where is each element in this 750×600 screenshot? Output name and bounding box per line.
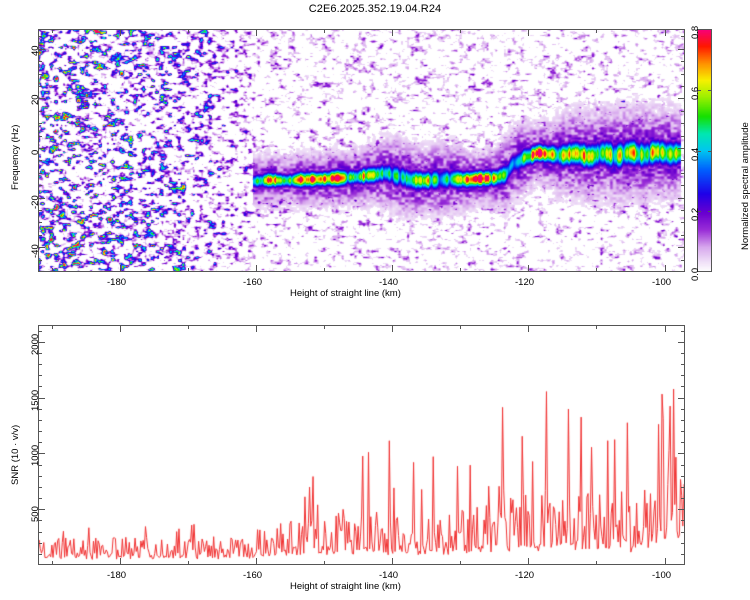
snr-x-minor-tick: [596, 561, 597, 565]
snr-line-plot: [38, 325, 685, 565]
spectrogram-y-ticklabel: 0: [30, 150, 41, 155]
spectrogram-y-minor-tick-right: [681, 210, 685, 211]
spectrogram-y-minor-tick-right: [681, 173, 685, 174]
spectrogram-yaxis-label: Frequency (Hz): [10, 125, 21, 190]
snr-x-major-tick-top: [256, 325, 257, 332]
snr-x-ticklabel: -120: [515, 570, 534, 581]
snr-x-major-tick: [392, 558, 393, 565]
spectrogram-x-major-tick: [120, 265, 121, 272]
spectrogram-y-minor-tick-right: [681, 235, 685, 236]
snr-y-minor-tick-right: [681, 442, 685, 443]
spectrogram-x-minor-tick: [52, 268, 53, 272]
colorbar-tick-right: [708, 29, 712, 30]
spectrogram-y-minor-tick: [38, 173, 42, 174]
spectrogram-x-ticklabel: -180: [107, 277, 126, 288]
spectrogram-x-major-tick-top: [528, 29, 529, 36]
snr-x-minor-tick-top: [460, 325, 461, 329]
spectrogram-y-minor-tick-right: [681, 86, 685, 87]
colorbar-tick-right: [708, 151, 712, 152]
snr-x-major-tick: [120, 558, 121, 565]
snr-x-minor-tick: [188, 561, 189, 565]
spectrogram-x-ticklabel: -160: [243, 277, 262, 288]
snr-x-ticklabel: -100: [652, 570, 671, 581]
spectrogram-y-minor-tick: [38, 222, 42, 223]
spectrogram-y-minor-tick: [38, 185, 42, 186]
snr-y-minor-tick: [38, 532, 42, 533]
colorbar-ticklabel: 0.6: [690, 87, 701, 100]
spectrogram-x-minor-tick: [188, 268, 189, 272]
snr-y-minor-tick: [38, 431, 42, 432]
spectrogram-y-major-tick-right: [678, 247, 685, 248]
snr-x-major-tick-top: [528, 325, 529, 332]
snr-x-minor-tick-top: [324, 325, 325, 329]
spectrogram-y-minor-tick-right: [681, 160, 685, 161]
colorbar-ticklabel: 0.0: [690, 268, 701, 281]
snr-x-major-tick: [665, 558, 666, 565]
spectrogram-x-major-tick: [528, 265, 529, 272]
snr-y-minor-tick: [38, 386, 42, 387]
spectrogram-y-minor-tick: [38, 123, 42, 124]
snr-y-minor-tick-right: [681, 520, 685, 521]
spectrogram-y-ticklabel: -20: [30, 195, 41, 209]
snr-y-minor-tick-right: [681, 420, 685, 421]
spectrogram-y-minor-tick: [38, 136, 42, 137]
spectrogram-x-major-tick-top: [120, 29, 121, 36]
spectrogram-x-minor-tick-top: [324, 29, 325, 33]
spectrogram-y-minor-tick-right: [681, 185, 685, 186]
spectrogram-x-minor-tick: [460, 268, 461, 272]
snr-x-ticklabel: -180: [107, 570, 126, 581]
spectrogram-y-major-tick-right: [678, 198, 685, 199]
snr-y-minor-tick-right: [681, 487, 685, 488]
colorbar-tick-right: [708, 211, 712, 212]
snr-y-minor-tick: [38, 420, 42, 421]
snr-x-major-tick-top: [120, 325, 121, 332]
spectrogram-y-minor-tick: [38, 74, 42, 75]
snr-y-minor-tick: [38, 487, 42, 488]
colorbar-tick-right: [708, 271, 712, 272]
figure-canvas-root: C2E6.2025.352.19.04.R24 -180-160-140-120…: [0, 0, 750, 600]
spectrogram-x-minor-tick-top: [188, 29, 189, 33]
spectrogram-y-minor-tick-right: [681, 260, 685, 261]
spectrogram-y-minor-tick-right: [681, 123, 685, 124]
spectrogram-y-minor-tick: [38, 111, 42, 112]
snr-y-minor-tick-right: [681, 532, 685, 533]
spectrogram-y-minor-tick-right: [681, 136, 685, 137]
snr-y-minor-tick-right: [681, 353, 685, 354]
snr-yaxis-label: SNR (10 · v/v): [10, 425, 21, 485]
spectrogram-x-minor-tick: [324, 268, 325, 272]
spectrogram-y-minor-tick: [38, 260, 42, 261]
spectrogram-y-minor-tick: [38, 61, 42, 62]
snr-x-minor-tick: [52, 561, 53, 565]
snr-y-minor-tick: [38, 331, 42, 332]
snr-y-minor-tick: [38, 543, 42, 544]
spectrogram-y-ticklabel: 20: [30, 94, 41, 105]
spectrogram-x-minor-tick-top: [596, 29, 597, 33]
colorbar-ticklabel: 0.4: [690, 148, 701, 161]
spectrogram-x-ticklabel: -140: [379, 277, 398, 288]
snr-y-ticklabel: 1000: [30, 445, 41, 466]
snr-x-minor-tick: [324, 561, 325, 565]
spectrogram-y-minor-tick-right: [681, 222, 685, 223]
spectrogram-y-ticklabel: 40: [30, 45, 41, 56]
spectrogram-y-minor-tick: [38, 160, 42, 161]
spectrogram-y-minor-tick: [38, 210, 42, 211]
spectrogram-x-major-tick: [256, 265, 257, 272]
snr-x-minor-tick-top: [52, 325, 53, 329]
snr-x-major-tick: [256, 558, 257, 565]
snr-y-minor-tick: [38, 364, 42, 365]
snr-y-minor-tick-right: [681, 431, 685, 432]
spectrogram-x-major-tick: [665, 265, 666, 272]
snr-x-minor-tick: [460, 561, 461, 565]
snr-y-minor-tick-right: [681, 386, 685, 387]
snr-x-major-tick: [528, 558, 529, 565]
spectrogram-x-minor-tick-top: [52, 29, 53, 33]
snr-x-major-tick-top: [665, 325, 666, 332]
snr-y-minor-tick-right: [681, 476, 685, 477]
snr-y-ticklabel: 500: [30, 506, 41, 522]
snr-y-major-tick-right: [678, 453, 685, 454]
snr-x-ticklabel: -140: [379, 570, 398, 581]
snr-y-minor-tick-right: [681, 331, 685, 332]
snr-y-minor-tick-right: [681, 465, 685, 466]
snr-y-minor-tick-right: [681, 554, 685, 555]
snr-y-minor-tick-right: [681, 409, 685, 410]
snr-y-major-tick-right: [678, 509, 685, 510]
spectrogram-x-ticklabel: -100: [652, 277, 671, 288]
spectrogram-y-ticklabel: -40: [30, 244, 41, 258]
spectrogram-x-major-tick-top: [392, 29, 393, 36]
snr-x-minor-tick-top: [188, 325, 189, 329]
spectrogram-y-minor-tick-right: [681, 111, 685, 112]
snr-y-minor-tick-right: [681, 498, 685, 499]
spectrogram-y-major-tick-right: [678, 98, 685, 99]
snr-y-minor-tick-right: [681, 375, 685, 376]
snr-y-minor-tick: [38, 554, 42, 555]
colorbar-label: Normalized spectral amplitude: [740, 122, 750, 250]
spectrogram-x-major-tick-top: [665, 29, 666, 36]
spectrogram-x-minor-tick: [596, 268, 597, 272]
snr-y-major-tick-right: [678, 398, 685, 399]
snr-x-minor-tick-top: [596, 325, 597, 329]
snr-y-ticklabel: 1500: [30, 390, 41, 411]
snr-y-major-tick-right: [678, 342, 685, 343]
snr-y-minor-tick: [38, 375, 42, 376]
spectrogram-image: [38, 29, 685, 272]
figure-title: C2E6.2025.352.19.04.R24: [0, 3, 750, 15]
snr-y-minor-tick: [38, 476, 42, 477]
snr-y-minor-tick-right: [681, 364, 685, 365]
snr-x-major-tick-top: [392, 325, 393, 332]
spectrogram-y-minor-tick-right: [681, 36, 685, 37]
snr-y-minor-tick: [38, 442, 42, 443]
spectrogram-xaxis-label: Height of straight line (km): [290, 288, 401, 299]
spectrogram-y-minor-tick: [38, 36, 42, 37]
spectrogram-y-minor-tick: [38, 86, 42, 87]
spectrogram-y-major-tick-right: [678, 49, 685, 50]
snr-y-minor-tick: [38, 498, 42, 499]
snr-x-ticklabel: -160: [243, 570, 262, 581]
snr-xaxis-label: Height of straight line (km): [290, 581, 401, 592]
spectrogram-x-minor-tick-top: [460, 29, 461, 33]
colorbar-ticklabel: 0.8: [690, 26, 701, 39]
spectrogram-x-major-tick: [392, 265, 393, 272]
spectrogram-y-minor-tick-right: [681, 74, 685, 75]
snr-y-ticklabel: 2000: [30, 334, 41, 355]
colorbar-ticklabel: 0.2: [690, 208, 701, 221]
spectrogram-y-major-tick-right: [678, 148, 685, 149]
colorbar-tick-right: [708, 90, 712, 91]
spectrogram-y-minor-tick: [38, 235, 42, 236]
snr-y-minor-tick-right: [681, 543, 685, 544]
spectrogram-x-major-tick-top: [256, 29, 257, 36]
spectrogram-y-minor-tick-right: [681, 61, 685, 62]
spectrogram-x-ticklabel: -120: [515, 277, 534, 288]
